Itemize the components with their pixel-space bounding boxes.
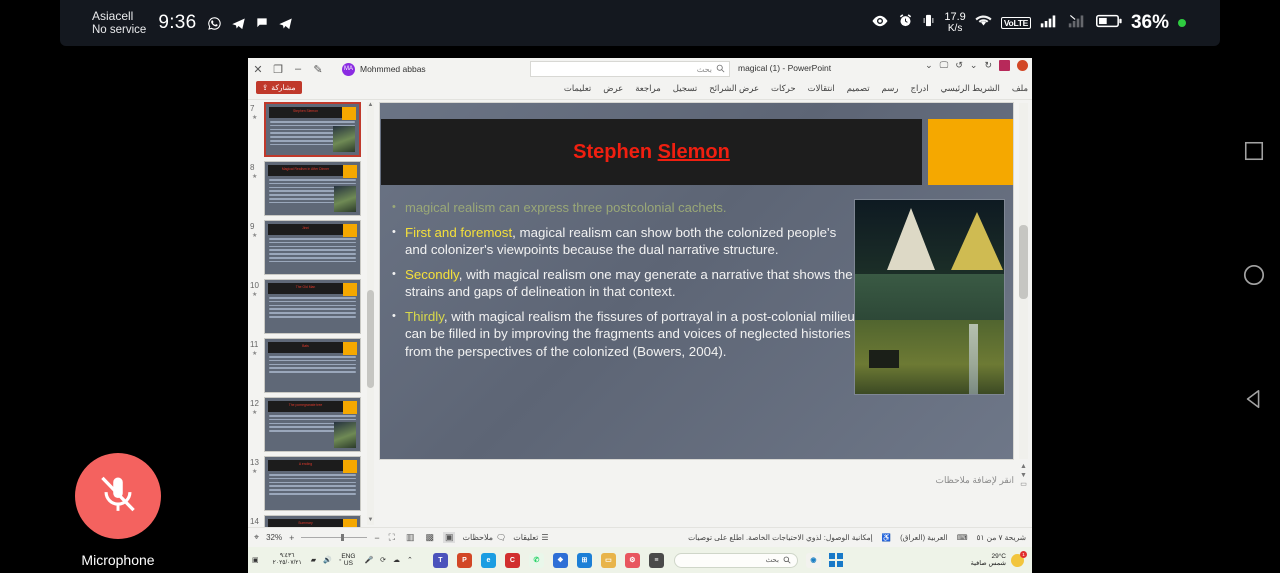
- slide-thumbnail-8[interactable]: 8 ★ Magical Realism in After Dinner: [248, 161, 376, 220]
- close-icon[interactable]: ✕: [248, 63, 268, 76]
- lang-line2: US: [341, 560, 355, 567]
- thumb-title: A ending: [268, 462, 343, 466]
- language-label[interactable]: العربية (العراق): [900, 533, 948, 542]
- view-fit-icon[interactable]: ⛶: [387, 532, 397, 543]
- scrollbar-thumb[interactable]: [1019, 225, 1028, 299]
- thumb-accent: [343, 165, 357, 178]
- notification-badge: 1: [1020, 551, 1027, 558]
- comments-icon: ☰: [541, 533, 548, 542]
- redo-icon[interactable]: ↻: [984, 60, 992, 71]
- home-circle-button[interactable]: [1242, 263, 1266, 292]
- microphone-mute-button[interactable]: [75, 453, 161, 539]
- animation-star-icon: ★: [252, 173, 257, 180]
- slide-body-text[interactable]: magical realism can express three postco…: [388, 199, 858, 367]
- recents-square-button[interactable]: [1243, 140, 1265, 167]
- view-normal-icon[interactable]: ▥: [404, 532, 417, 543]
- eye-icon: [871, 14, 889, 32]
- slide-thumbnail-14[interactable]: 14 ★ Summary: [248, 515, 376, 527]
- thumb-number: 14: [250, 517, 259, 526]
- powerpoint-workspace: 7 ★ Stephen Slemon 8 ★ Magical Realism i…: [248, 100, 1032, 527]
- scroll-up-icon[interactable]: ▲: [367, 102, 374, 110]
- slide-nav-buttons[interactable]: ▲ ▼ ▭: [1019, 462, 1028, 489]
- windows-search-box[interactable]: بحث: [674, 553, 798, 568]
- slide-thumbnail-10[interactable]: 10 ★ The Old Man: [248, 279, 376, 338]
- search-input[interactable]: بحث: [530, 61, 730, 77]
- bullet-4: Thirdly, with magical realism the fissur…: [388, 308, 858, 361]
- tab-record[interactable]: تسجيل: [673, 83, 697, 94]
- thumb-title-bar: The pomegranate tree: [268, 401, 343, 412]
- current-slide[interactable]: Stephen Slemon magical realism can expre…: [380, 103, 1013, 459]
- thumb-preview: A ending: [264, 456, 361, 511]
- weather-text: 29°C شمس صافية: [971, 553, 1006, 568]
- slide-title-plain: Stephen: [573, 141, 657, 163]
- share-label: مشاركة: [271, 83, 295, 92]
- alarm-icon: [898, 13, 913, 33]
- slide-indicator: شريحة ٧ من ٥١: [977, 533, 1026, 542]
- browser-icon[interactable]: ◉: [806, 553, 821, 568]
- microphone-muted-icon: [96, 472, 140, 521]
- pen-icon[interactable]: ✎: [308, 63, 328, 76]
- notes-label: ملاحظات: [462, 533, 493, 542]
- battery-percent: 36%: [1131, 12, 1169, 34]
- minimize-icon[interactable]: –: [288, 63, 308, 75]
- language-icon[interactable]: ⌨: [957, 533, 968, 542]
- battery-tray-icon[interactable]: ▰: [311, 556, 316, 564]
- weather-desc: شمس صافية: [971, 560, 1006, 568]
- undo-dropdown-icon[interactable]: ⌄: [970, 60, 978, 71]
- thumb-image: [334, 186, 356, 212]
- taskbar-date: ٢٠٢٥/٠٧/٢١: [273, 560, 302, 567]
- start-button[interactable]: [829, 553, 843, 567]
- slide-accent-block: [928, 119, 1013, 185]
- signal-off-icon: [1068, 14, 1087, 33]
- bullet-4-text: , with magical realism the fissures of p…: [405, 309, 855, 359]
- windows-search-placeholder: بحث: [766, 556, 779, 564]
- restore-icon[interactable]: ❐: [268, 63, 288, 76]
- bullet-2: First and foremost, magical realism can …: [388, 224, 858, 259]
- slide-title-box[interactable]: Stephen Slemon: [381, 119, 922, 185]
- quick-access-toolbar: ⌄ 🖵 ↺ ⌄ ↻: [925, 60, 1028, 71]
- ribbon-tabs: ملف الشريط الرئيسي ادراج رسم تصميم انتقا…: [564, 83, 1028, 94]
- wifi-icon: [975, 14, 992, 32]
- thumb-preview: The Old Man: [264, 279, 361, 334]
- edge-icon[interactable]: e: [481, 553, 496, 568]
- thumb-preview: Magical Realism in After Dinner: [264, 161, 361, 216]
- thumb-image: [334, 422, 356, 448]
- zoom-level[interactable]: 32%: [266, 533, 282, 542]
- slide-image[interactable]: [854, 199, 1005, 395]
- volte-icon: VoLTE: [1001, 17, 1031, 29]
- network-speed: 17.9 K/s: [944, 12, 965, 34]
- whatsapp-icon[interactable]: ✆: [529, 553, 544, 568]
- notes-pane[interactable]: انقر لإضافة ملاحظات: [380, 465, 1014, 507]
- thumb-title-bar: Jinni: [268, 224, 343, 235]
- android-nav-bar: [1242, 140, 1266, 415]
- carrier-state: No service: [92, 23, 146, 37]
- thumb-number: 12: [250, 399, 259, 408]
- bullet-1-text: magical realism can express three postco…: [405, 200, 727, 215]
- search-icon: [716, 60, 725, 78]
- telegram-icon: [278, 16, 293, 31]
- animation-star-icon: ★: [252, 291, 257, 298]
- store-icon[interactable]: ⊞: [577, 553, 592, 568]
- thumb-title-bar: Bats: [268, 342, 343, 353]
- thumb-accent: [343, 519, 357, 527]
- taskbar-extra-tray: 🎤 ⟳ ☁ ⌃: [364, 556, 412, 564]
- thumb-title-bar: Summary: [268, 519, 343, 527]
- android-status-bar: Asiacell No service 9:36: [60, 0, 1220, 46]
- photos-icon[interactable]: ❖: [553, 553, 568, 568]
- cgames-icon[interactable]: C: [505, 553, 520, 568]
- thumb-title-bar: Magical Realism in After Dinner: [268, 165, 343, 176]
- view-sorter-icon[interactable]: ▩: [423, 532, 436, 543]
- language-indicator[interactable]: ENG US: [341, 553, 355, 567]
- user-name: Mohmmed abbas: [360, 64, 426, 74]
- notes-placeholder: انقر لإضافة ملاحظات: [935, 475, 1014, 486]
- thumb-title: The Old Man: [268, 285, 343, 289]
- mic-tray-icon[interactable]: 🎤: [364, 556, 373, 564]
- present-icon[interactable]: 🖵: [940, 60, 949, 71]
- thumb-number: 11: [250, 340, 258, 349]
- back-triangle-button[interactable]: [1243, 388, 1265, 415]
- thumb-title-bar: The Old Man: [268, 283, 343, 294]
- microphone-label: Microphone: [74, 552, 162, 568]
- thumb-number: 9: [250, 222, 254, 231]
- sync-tray-icon[interactable]: ⟳: [380, 556, 386, 564]
- bullet-3-keyword: Secondly: [405, 267, 459, 282]
- thumb-title: Bats: [268, 344, 343, 348]
- thumb-number: 10: [250, 281, 259, 290]
- thumb-number: 8: [250, 163, 254, 172]
- cloud-tray-icon[interactable]: ☁: [393, 556, 400, 564]
- tab-slideshow[interactable]: عرض الشرائح: [709, 83, 759, 94]
- slide-thumbnail-11[interactable]: 11 ★ Bats: [248, 338, 376, 397]
- lang-line1: ENG: [341, 553, 355, 560]
- animation-star-icon: ★: [252, 114, 257, 121]
- slide-title-underlined: Slemon: [658, 141, 730, 163]
- thumb-preview: Bats: [264, 338, 361, 393]
- slide-thumbnail-13[interactable]: 13 ★ A ending: [248, 456, 376, 515]
- scrollbar-thumb[interactable]: [367, 290, 374, 388]
- weather-temp: 29°C: [971, 553, 1006, 561]
- slide-thumbnail-9[interactable]: 9 ★ Jinni: [248, 220, 376, 279]
- weather-widget[interactable]: 29°C شمس صافية 1: [971, 553, 1024, 568]
- thumb-preview: Summary: [264, 515, 361, 527]
- search-placeholder: بحث: [697, 65, 712, 74]
- bullet-3: Secondly, with magical realism one may g…: [388, 266, 858, 301]
- powerpoint-title-bar: ✕ ❐ – ✎ MA Mohmmed abbas بحث magical (1)…: [248, 58, 1032, 80]
- next-slide-icon[interactable]: ▼: [1019, 471, 1028, 480]
- slide-title: Stephen Slemon: [381, 141, 922, 164]
- teams-icon[interactable]: T: [433, 553, 448, 568]
- carrier-info: Asiacell No service: [92, 9, 146, 37]
- telegram-icon: [231, 16, 246, 31]
- view-reading-icon[interactable]: ▣: [443, 532, 456, 543]
- vibrate-icon: [922, 13, 935, 33]
- folder-icon[interactable]: ▭: [601, 553, 616, 568]
- thumb-title: Magical Realism in After Dinner: [268, 167, 343, 171]
- tab-file[interactable]: ملف: [1012, 83, 1028, 94]
- powerpoint-status-bar: ⌖ 32% + − ⛶ ▥ ▩ ▣ 🗨 ملاحظات ☰ تعليقات: [248, 527, 1032, 547]
- slide-editing-stage: Stephen Slemon magical realism can expre…: [376, 100, 1032, 527]
- animation-star-icon: ★: [252, 232, 257, 239]
- thumb-text-lines: [269, 238, 356, 264]
- thumb-accent: [343, 460, 357, 473]
- thumb-accent: [343, 224, 357, 237]
- powerpoint-window: ✕ ❐ – ✎ MA Mohmmed abbas بحث magical (1)…: [248, 58, 1032, 547]
- bullet-4-keyword: Thirdly: [405, 309, 444, 324]
- status-clock: 9:36: [158, 12, 196, 34]
- document-title: magical (1) - PowerPoint: [738, 63, 831, 73]
- slide-thumbnail-7[interactable]: 7 ★ Stephen Slemon: [248, 102, 376, 161]
- thumb-title-bar: A ending: [268, 460, 343, 471]
- thumb-text-lines: [269, 356, 356, 375]
- thumb-accent: [343, 283, 357, 296]
- thumb-title-bar: Stephen Slemon: [269, 107, 342, 118]
- slide-thumbnail-12[interactable]: 12 ★ The pomegranate tree: [248, 397, 376, 456]
- zoom-slider-knob[interactable]: [341, 534, 344, 541]
- powerpoint-icon[interactable]: P: [457, 553, 472, 568]
- ribbon-tab-strip: ⇪ مشاركة ملف الشريط الرئيسي ادراج رسم تص…: [248, 80, 1032, 100]
- previous-slide-icon[interactable]: ▲: [1019, 462, 1028, 471]
- tray-expand-icon[interactable]: ▣: [252, 556, 259, 564]
- chat-bubble-icon: [255, 16, 269, 30]
- autosave-icon[interactable]: ⌄: [925, 60, 933, 71]
- slide-scrollbar[interactable]: [1019, 103, 1028, 459]
- battery-icon: [1096, 14, 1122, 33]
- thumb-title: Stephen Slemon: [269, 109, 342, 113]
- thumb-number: 13: [250, 458, 259, 467]
- undo-icon[interactable]: ↺: [955, 60, 963, 71]
- thumb-image: [333, 126, 355, 152]
- thumb-text-lines: [269, 474, 356, 497]
- tab-view[interactable]: عرض: [603, 83, 623, 94]
- image-house: [869, 350, 899, 368]
- bullet-2-keyword: First and foremost: [405, 225, 512, 240]
- microphone-overlay: Microphone: [74, 453, 162, 568]
- notes-button[interactable]: 🗨 ملاحظات: [462, 533, 506, 542]
- thumb-preview: Stephen Slemon: [264, 102, 361, 157]
- tab-help[interactable]: تعليمات: [564, 83, 591, 94]
- image-white-peak: [887, 208, 935, 270]
- fit-slide-icon[interactable]: ▭: [1019, 480, 1028, 489]
- status-right-group: شريحة ٧ من ٥١ ⌨ العربية (العراق) ♿ إمكان…: [688, 533, 1026, 542]
- bullet-3-text: , with magical realism one may generate …: [405, 267, 853, 300]
- thumb-preview: The pomegranate tree: [264, 397, 361, 452]
- thumb-title: Summary: [268, 521, 343, 525]
- animation-star-icon: ★: [252, 409, 257, 416]
- settings-icon[interactable]: ⚙: [625, 553, 640, 568]
- thumbnail-scrollbar[interactable]: ▲ ▼: [367, 102, 374, 525]
- taskbar-clock[interactable]: ٩:٤٣٦ ٢٠٢٥/٠٧/٢١: [273, 553, 302, 567]
- thumb-accent: [343, 342, 357, 355]
- image-waterfall: [969, 324, 978, 394]
- phone-screen: Asiacell No service 9:36: [0, 0, 1280, 573]
- tab-design[interactable]: تصميم: [847, 83, 870, 94]
- bullet-1: magical realism can express three postco…: [388, 199, 858, 217]
- thumb-accent: [342, 107, 356, 120]
- taskbar-system-tray: ▰ 🔊 ◦: [311, 556, 342, 564]
- animation-star-icon: ★: [252, 350, 257, 357]
- thumb-text-lines: [269, 297, 356, 320]
- accessibility-icon[interactable]: ♿: [882, 533, 891, 542]
- tab-home[interactable]: الشريط الرئيسي: [941, 83, 1000, 94]
- zoom-slider[interactable]: [301, 537, 367, 538]
- chevron-up-icon[interactable]: ⌃: [407, 556, 413, 564]
- animation-star-icon: ★: [252, 468, 257, 475]
- zoom-in-icon[interactable]: −: [374, 533, 379, 543]
- carrier-name: Asiacell: [92, 9, 146, 23]
- windows-taskbar: ▣ ٩:٤٣٦ ٢٠٢٥/٠٧/٢١ ▰ 🔊 ◦ ENG US 🎤 ⟳ ☁ ⌃ …: [248, 547, 1032, 573]
- search-icon: [783, 551, 791, 569]
- save-icon[interactable]: [999, 60, 1010, 71]
- thumb-accent: [343, 401, 357, 414]
- tab-transitions[interactable]: انتقالات: [808, 83, 835, 94]
- taskbar-app-list: T P e C ✆ ❖ ⊞ ▭ ⚙ ≡: [433, 553, 664, 568]
- status-indicator-dot: [1178, 19, 1186, 27]
- notes-icon: 🗨: [496, 533, 506, 542]
- office-icon[interactable]: [1017, 60, 1028, 71]
- thumb-title: The pomegranate tree: [268, 403, 343, 407]
- status-right-icons: 17.9 K/s VoLTE 36%: [871, 12, 1186, 34]
- status-left-group: ⌖ 32% + − ⛶ ▥ ▩ ▣ 🗨 ملاحظات ☰ تعليقات: [254, 532, 549, 543]
- avatar[interactable]: MA: [342, 63, 355, 76]
- notepad-icon[interactable]: ≡: [649, 553, 664, 568]
- thumb-preview: Jinni: [264, 220, 361, 275]
- thumb-number: 7: [250, 104, 254, 113]
- zoom-out-icon[interactable]: +: [289, 533, 294, 543]
- tab-animations[interactable]: حركات: [771, 83, 796, 94]
- weather-sun-icon: 1: [1011, 554, 1024, 567]
- fit-window-icon[interactable]: ⌖: [254, 532, 259, 543]
- comments-button[interactable]: ☰ تعليقات: [513, 533, 548, 542]
- thumb-title: Jinni: [268, 226, 343, 230]
- volume-tray-icon[interactable]: 🔊: [323, 556, 332, 564]
- comments-label: تعليقات: [513, 533, 538, 542]
- taskbar-time: ٩:٤٣٦: [273, 553, 302, 560]
- share-icon: ⇪: [262, 83, 268, 92]
- scroll-down-icon[interactable]: ▼: [367, 517, 374, 525]
- whatsapp-icon: [207, 16, 222, 31]
- signal-icon: [1040, 14, 1059, 33]
- slide-thumbnail-pane[interactable]: 7 ★ Stephen Slemon 8 ★ Magical Realism i…: [248, 100, 376, 527]
- share-button[interactable]: ⇪ مشاركة: [256, 81, 302, 94]
- notification-icons: [207, 16, 293, 31]
- tab-insert[interactable]: ادراج: [910, 83, 928, 94]
- tab-review[interactable]: مراجعة: [635, 83, 661, 94]
- image-gold-peak: [951, 212, 1003, 270]
- accessibility-label[interactable]: إمكانية الوصول: لذوي الاحتياجات الخاصة. …: [688, 533, 873, 542]
- tab-draw[interactable]: رسم: [882, 83, 899, 94]
